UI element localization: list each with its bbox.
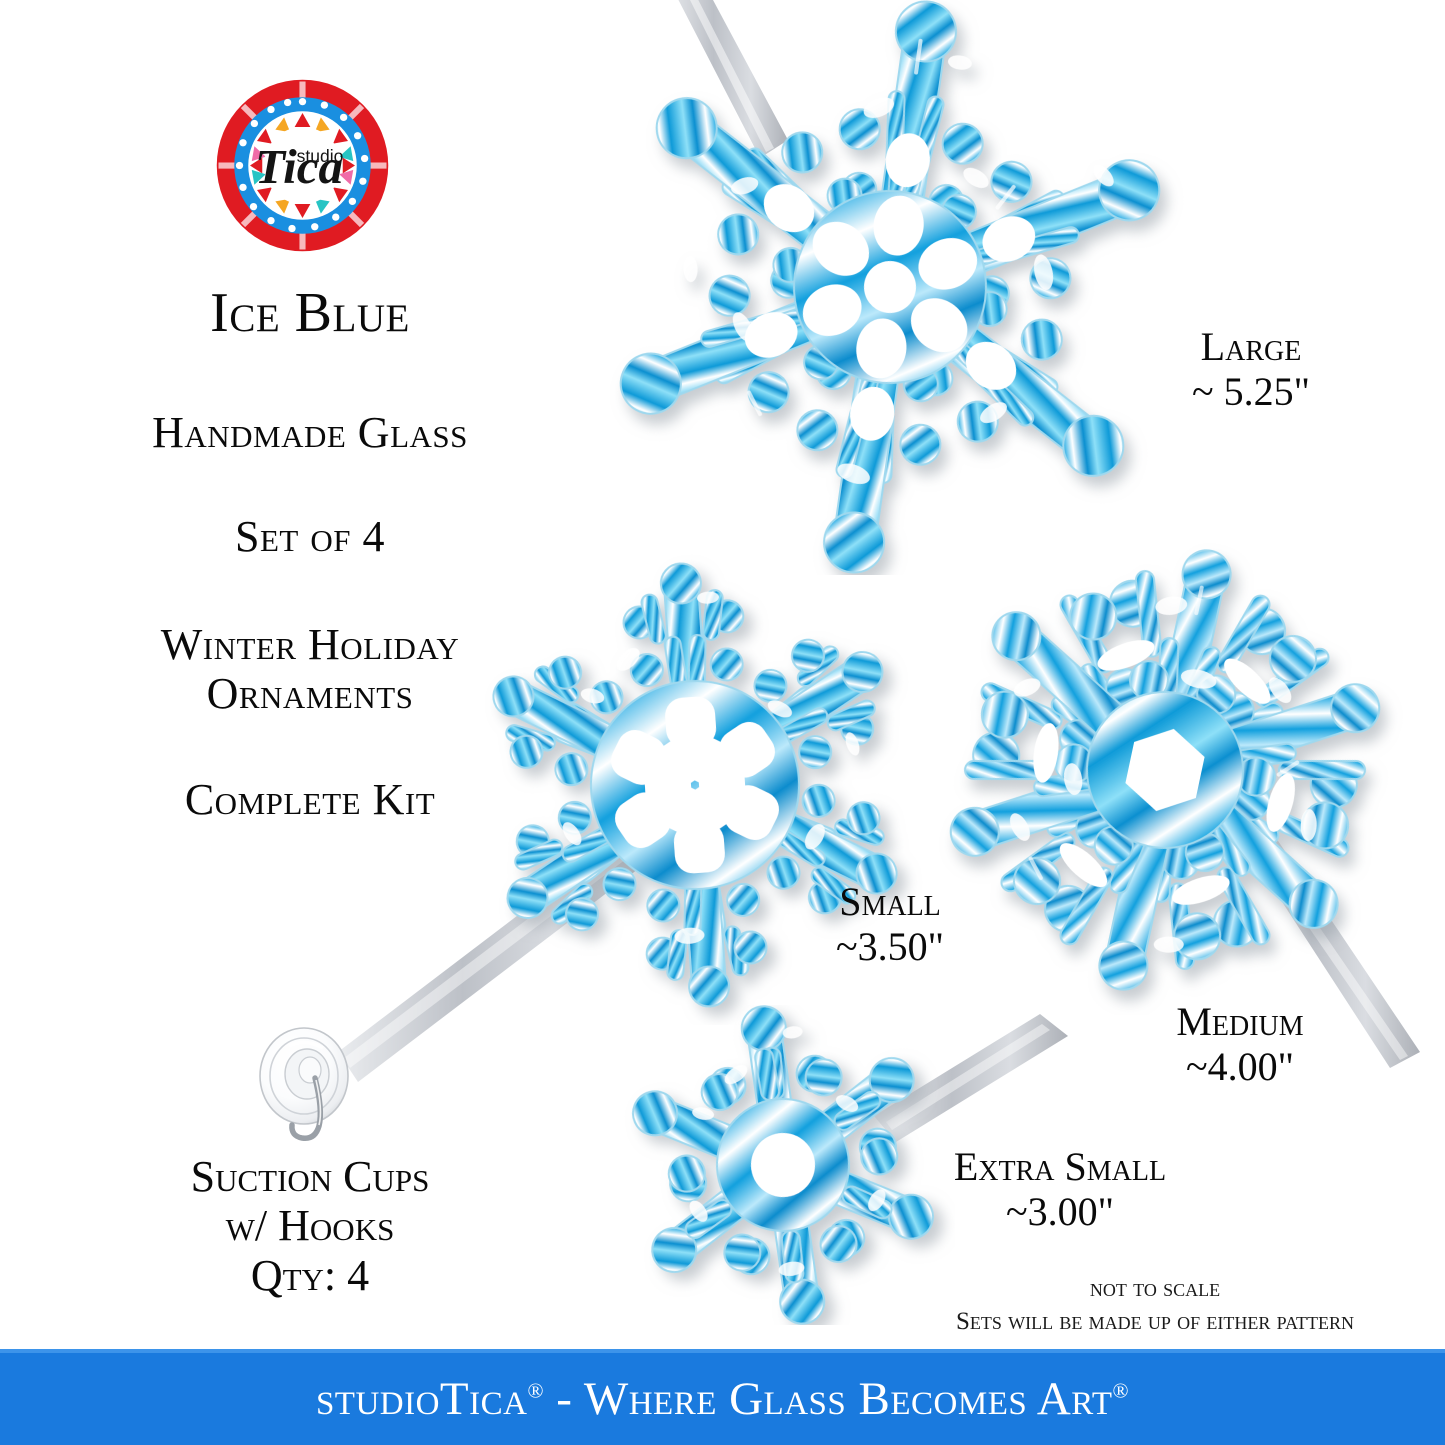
footer-tagline: studioTica® - Where Glass Becomes Art®	[316, 1372, 1129, 1426]
registered-mark-icon: ®	[527, 1378, 544, 1402]
kit-label: Complete Kit	[30, 775, 590, 824]
registered-mark-icon-2: ®	[1113, 1378, 1130, 1402]
footer-banner: studioTica® - Where Glass Becomes Art®	[0, 1349, 1445, 1445]
disclaimer-text: not to scale Sets will be made up of eit…	[880, 1272, 1430, 1338]
size-label-medium: Medium ~4.00"	[1095, 1000, 1385, 1090]
category-label: Winter Holiday Ornaments	[30, 620, 590, 719]
suction-cups-label: Suction Cups w/ Hooks Qty: 4	[30, 1152, 590, 1300]
logo-studio-word: studio	[297, 146, 344, 166]
studiotica-logo: Tica studio	[215, 78, 390, 253]
size-label-small: Small ~3.50"	[760, 880, 1020, 970]
snowflake-large	[580, 0, 1200, 575]
size-label-large: Large ~ 5.25"	[1106, 325, 1396, 415]
set-count-label: Set of 4	[30, 512, 590, 561]
size-label-extra-small: Extra Small ~3.00"	[905, 1145, 1215, 1235]
footer-tagline-text: - Where Glass Becomes Art	[544, 1373, 1112, 1425]
footer-brand: studioTica	[316, 1373, 528, 1425]
suction-cup-with-hook-icon	[249, 1018, 367, 1148]
material-label: Handmade Glass	[30, 408, 590, 457]
product-info-graphic: Tica studio	[0, 0, 1445, 1445]
page-title: Ice Blue	[30, 282, 590, 345]
